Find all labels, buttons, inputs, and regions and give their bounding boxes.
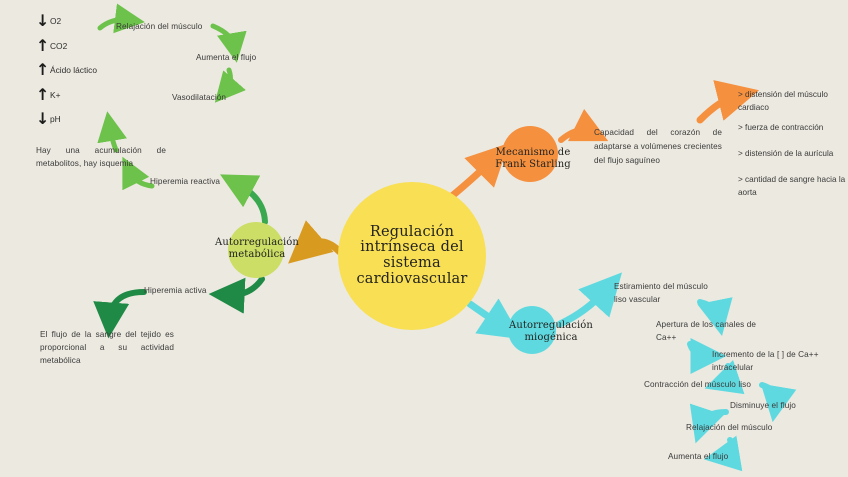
metabolite-row-co2: ↑ CO2 (36, 38, 67, 54)
label-hiperemia-reactiva: Hiperemia reactiva (150, 175, 250, 188)
center-node-label: Regulación intrínseca del sistema cardio… (346, 225, 478, 288)
down-arrow-icon: ↓ (36, 111, 47, 127)
bullet-fuerza-contraccion: > fuerza de contracción (738, 121, 848, 134)
label-contraccion-musculo-liso: Contracción del músculo liso (644, 378, 766, 391)
label-acumulacion-metabolitos: Hay una acumulación de metabolitos, hay … (36, 144, 166, 170)
label-aumenta-flujo-metabolica: Aumenta el flujo (196, 51, 296, 64)
up-arrow-icon: ↑ (36, 62, 47, 78)
node-label-miogenica: Autorregulación miogénica (492, 320, 610, 343)
arrow-detail-to-bullets (700, 96, 736, 120)
metabolite-label: K+ (50, 90, 60, 100)
label-vasodilatacion: Vasodilatación (172, 91, 262, 104)
up-arrow-icon: ↑ (36, 38, 47, 54)
metabolite-row-ph: ↓ pH (36, 111, 61, 127)
label-aumenta-flujo-miogenica: Aumenta el flujo (668, 450, 760, 463)
bullet-distension-musculo-cardiaco: > distensión del músculo cardiaco (738, 88, 848, 114)
metabolite-label: CO2 (50, 41, 67, 51)
arrow-miogenica-to-estiramiento (560, 290, 606, 324)
label-relajacion-musculo-metabolica: Relajación del músculo (116, 20, 226, 33)
label-capacidad-corazon: Capacidad del corazón de adaptarse a vol… (594, 126, 722, 168)
bullet-cantidad-sangre-aorta: > cantidad de sangre hacia la aorta (738, 173, 848, 199)
bullet-distension-auricula: > distensión de la aurícula (738, 147, 848, 160)
arrow-apertura-to-incremento (690, 344, 706, 356)
arrow-activa-to-flujo-sangre (110, 292, 144, 318)
metabolite-label: pH (50, 114, 61, 124)
node-label-metabolica: Autorregulación metabólica (199, 237, 315, 260)
label-flujo-sangre-tejido: El flujo de la sangre del tejido es prop… (40, 328, 174, 367)
label-incremento-ca-intracelular: Incremento de la [ ] de Ca++ intracelula… (712, 348, 836, 374)
mindmap-canvas: ↓ O2 ↑ CO2 ↑ Ácido láctico ↑ K+ ↓ pH Rel… (0, 0, 848, 477)
label-hiperemia-activa: Hiperemia activa (144, 284, 238, 297)
up-arrow-icon: ↑ (36, 87, 47, 103)
label-apertura-canales-ca: Apertura de los canales de Ca++ (656, 318, 760, 344)
label-estiramiento-musculo-liso: Estiramiento del músculo liso vascular (614, 280, 722, 306)
metabolite-row-k: ↑ K+ (36, 87, 60, 103)
arrow-reactiva-to-acumulacion (130, 172, 152, 186)
arrow-aumenta-to-vasodilatacion (226, 70, 230, 90)
arrow-metabolica-to-reactiva (238, 184, 265, 222)
label-disminuye-flujo: Disminuye el flujo (730, 399, 826, 412)
metabolite-row-o2: ↓ O2 (36, 13, 61, 29)
metabolite-label: O2 (50, 16, 61, 26)
metabolite-row-acido-lactico: ↑ Ácido láctico (36, 62, 97, 78)
down-arrow-icon: ↓ (36, 13, 47, 29)
node-central-regulacion-intrinseca[interactable]: Regulación intrínseca del sistema cardio… (338, 182, 486, 330)
arrow-frank-to-detail (561, 130, 590, 140)
metabolite-label: Ácido láctico (50, 65, 97, 75)
node-label-frank-starling: Mecanismo de Frank Starling (481, 147, 585, 170)
label-relajacion-musculo-miogenica: Relajación del músculo (686, 421, 792, 434)
